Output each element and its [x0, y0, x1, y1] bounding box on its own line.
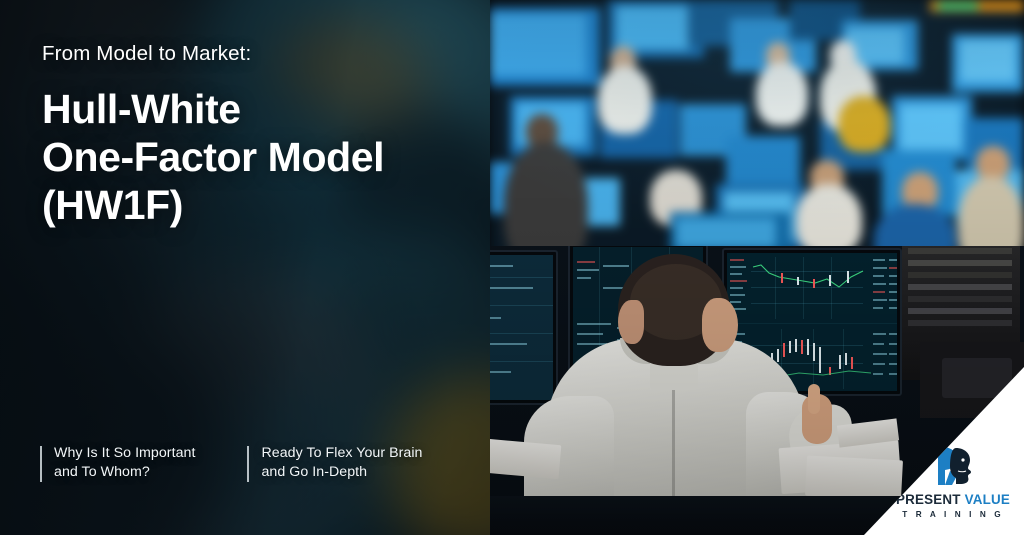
left-text-panel: From Model to Market: Hull-White One-Fac… — [0, 0, 490, 535]
caption-item-depth: Ready To Flex Your Brain and Go In-Depth — [247, 444, 422, 483]
caption-2-line-1: Ready To Flex Your Brain — [261, 445, 422, 461]
headline-line-2: One-Factor Model — [42, 133, 472, 181]
eyebrow-text: From Model to Market: — [42, 42, 472, 67]
page-title: Hull-White One-Factor Model (HW1F) — [42, 85, 472, 230]
caption-1-line-2: and To Whom? — [54, 464, 150, 480]
logo-word-value: VALUE — [965, 492, 1010, 507]
trading-floor-photo: PRESENT VALUE T R A I N I N G — [490, 0, 1024, 535]
caption-row: Why Is It So Important and To Whom? Read… — [40, 444, 480, 483]
headline-line-3: (HW1F) — [42, 181, 472, 229]
headline-line-1: Hull-White — [42, 85, 472, 133]
caption-item-importance: Why Is It So Important and To Whom? — [40, 444, 195, 483]
caption-1-line-1: Why Is It So Important — [54, 445, 195, 461]
logo-wordmark: PRESENT VALUE — [894, 493, 1012, 506]
promo-banner: From Model to Market: Hull-White One-Fac… — [0, 0, 1024, 535]
headline-block: From Model to Market: Hull-White One-Fac… — [42, 42, 472, 230]
caption-2-line-2: and Go In-Depth — [261, 464, 367, 480]
logo-subtitle: T R A I N I N G — [894, 511, 1012, 519]
monitor-left — [490, 250, 558, 405]
logo-word-present: PRESENT — [896, 492, 961, 507]
